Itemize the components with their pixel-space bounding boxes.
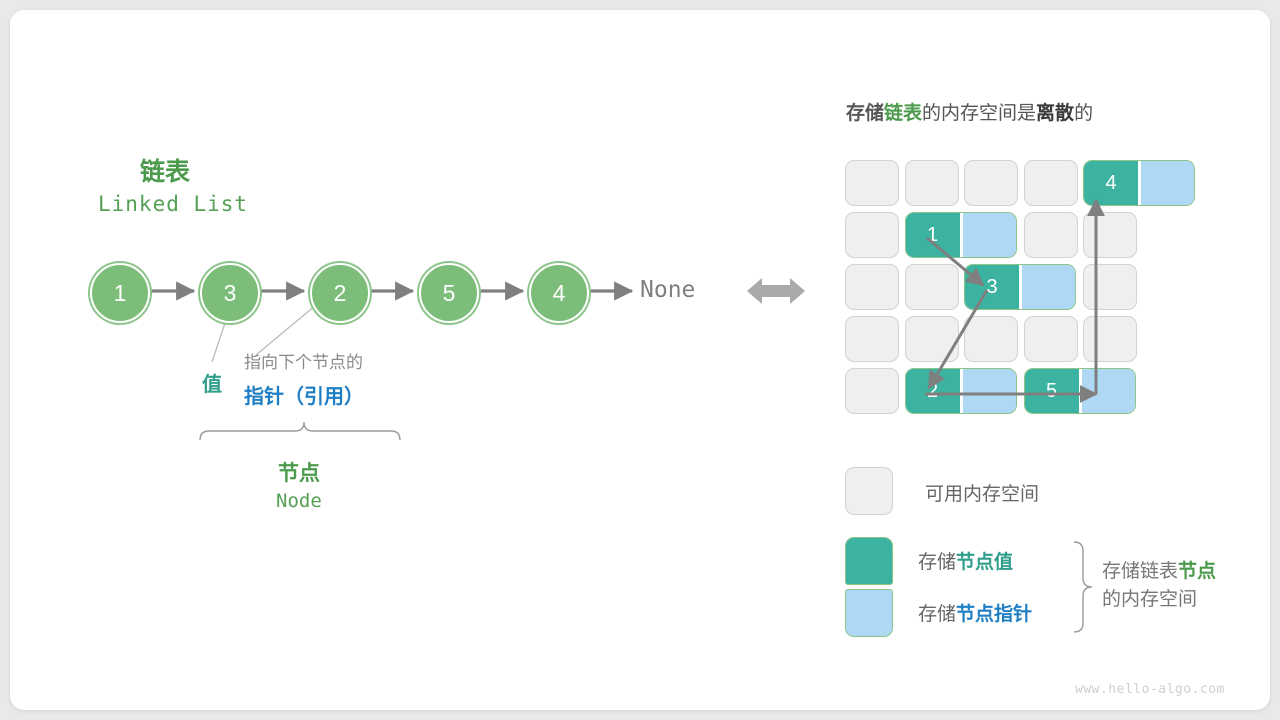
- node-value: 2: [334, 280, 347, 307]
- memory-title-highlight: 链表: [884, 103, 922, 124]
- list-node-2: 2: [310, 263, 370, 323]
- node-value: 3: [224, 280, 237, 307]
- annotation-value-label: 值: [202, 368, 222, 397]
- memory-title-bold: 离散: [1036, 103, 1074, 124]
- legend-free-swatch: [845, 467, 893, 515]
- legend-brace-icon: [1068, 540, 1098, 636]
- equivalence-arrow-icon: [745, 272, 809, 312]
- legend-brace-line2: 的内存空间: [1102, 589, 1197, 610]
- legend-free-label: 可用内存空间: [925, 479, 1039, 506]
- legend-value-bold: 节点值: [956, 552, 1013, 573]
- legend-node-swatch: [845, 537, 893, 637]
- memory-title-part3: 的: [1074, 103, 1093, 124]
- list-node-0: 1: [90, 263, 150, 323]
- legend-value-prefix: 存储: [918, 552, 956, 573]
- diagram-card: 链表 Linked List 1 3 2 5 4 None 值 指向下个节: [10, 10, 1270, 710]
- none-terminator-label: None: [640, 277, 695, 303]
- memory-title: 存储链表的内存空间是离散的: [846, 98, 1093, 125]
- list-node-4: 4: [529, 263, 589, 323]
- annotation-pointer-line2: 指针（引用）: [244, 380, 364, 409]
- list-node-1: 3: [200, 263, 260, 323]
- legend-pointer-label: 存储节点指针: [918, 599, 1032, 626]
- legend-pointer-bold: 节点指针: [956, 604, 1032, 625]
- node-value: 5: [443, 280, 456, 307]
- memory-pointer-arrows: [845, 160, 1175, 422]
- annotation-pointer-line1: 指向下个节点的: [244, 348, 363, 373]
- annotation-node-label-cn: 节点: [278, 457, 320, 487]
- memory-title-part2: 的内存空间是: [922, 103, 1036, 124]
- legend-brace-prefix: 存储链表: [1102, 561, 1178, 582]
- legend-value-label: 存储节点值: [918, 547, 1013, 574]
- list-node-3: 5: [419, 263, 479, 323]
- legend-brace-label: 存储链表节点的内存空间: [1102, 558, 1262, 614]
- legend-pointer-prefix: 存储: [918, 604, 956, 625]
- memory-grid: 41325: [845, 160, 1159, 416]
- annotation-node-label-en: Node: [276, 490, 322, 512]
- memory-title-part1: 存储: [846, 103, 884, 124]
- node-value: 1: [114, 280, 127, 307]
- legend-brace-bold: 节点: [1178, 561, 1216, 582]
- watermark: www.hello-algo.com: [1075, 682, 1225, 697]
- node-value: 4: [553, 280, 566, 307]
- legend-value-swatch: [845, 537, 893, 585]
- legend-pointer-swatch: [845, 589, 893, 637]
